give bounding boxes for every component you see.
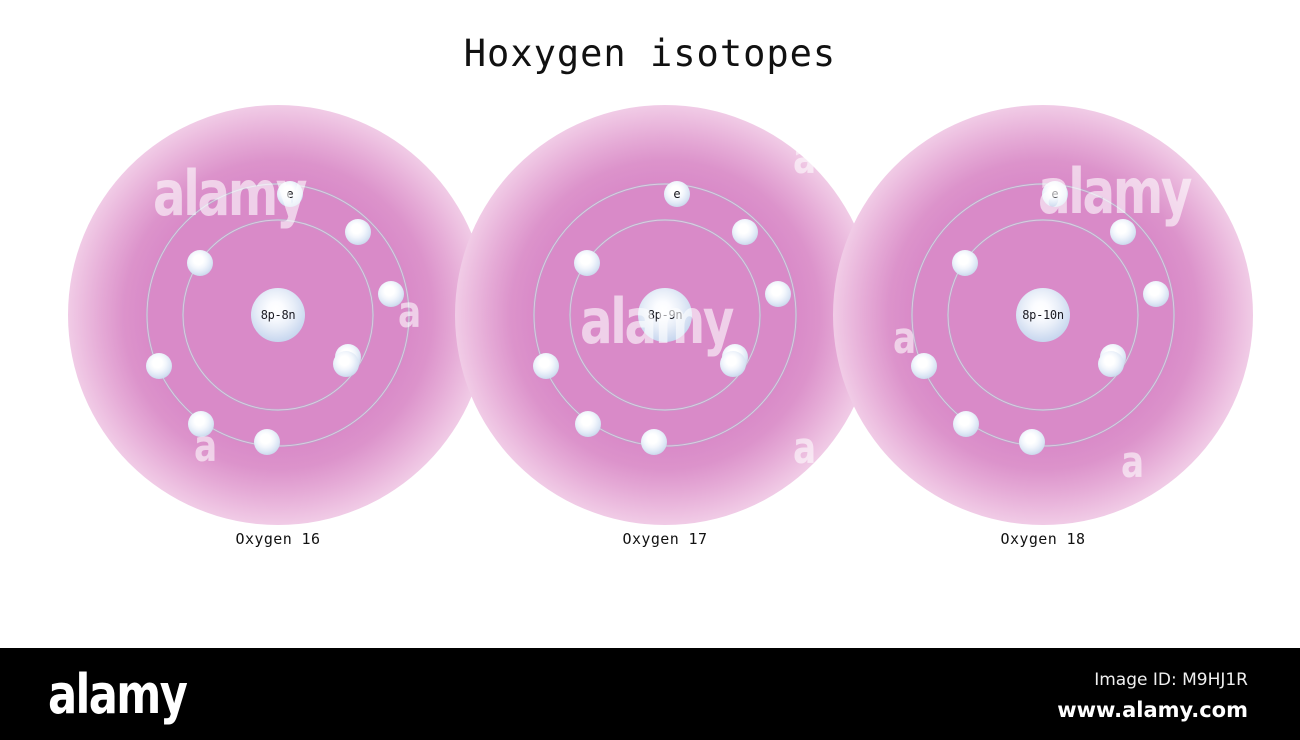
electron-outer-2 <box>1110 219 1136 245</box>
page-title: Hoxygen isotopes <box>0 32 1300 75</box>
electron-inner-1 <box>574 250 600 276</box>
alamy-logo[interactable]: alamy <box>48 668 186 722</box>
electron-symbol: e <box>1051 188 1058 200</box>
electron-outer-1-labeled: e <box>277 181 303 207</box>
electron-outer-1-labeled: e <box>664 181 690 207</box>
electron-symbol: e <box>673 188 680 200</box>
nucleus: 8p-9n <box>638 288 692 342</box>
image-id-text: Image ID: M9HJ1R <box>1094 670 1248 690</box>
electron-outer-3 <box>1143 281 1169 307</box>
electron-outer-3 <box>378 281 404 307</box>
nucleus: 8p-8n <box>251 288 305 342</box>
nucleus-label: 8p-10n <box>1022 308 1064 322</box>
electron-outer-7 <box>911 353 937 379</box>
electron-outer-5 <box>641 429 667 455</box>
diagram-canvas: Hoxygen isotopes 8p-8n e alamy a a Oxyge… <box>0 0 1300 648</box>
electron-inner-1 <box>187 250 213 276</box>
atom-caption: Oxygen 17 <box>455 530 875 548</box>
electron-inner-1 <box>952 250 978 276</box>
nucleus-label: 8p-9n <box>648 308 683 322</box>
nucleus-label: 8p-8n <box>261 308 296 322</box>
website-url[interactable]: www.alamy.com <box>1057 698 1248 722</box>
electron-outer-5 <box>1019 429 1045 455</box>
nucleus: 8p-10n <box>1016 288 1070 342</box>
electron-outer-2 <box>345 219 371 245</box>
electron-outer-3 <box>765 281 791 307</box>
electron-outer-2 <box>732 219 758 245</box>
atom-caption: Oxygen 16 <box>68 530 488 548</box>
atom-oxygen-18: 8p-10n e alamy a a Oxygen 18 <box>833 105 1253 525</box>
electron-outer-7 <box>146 353 172 379</box>
atom-oxygen-16: 8p-8n e alamy a a Oxygen 16 <box>68 105 488 525</box>
electron-outer-4 <box>333 351 359 377</box>
electron-outer-6 <box>188 411 214 437</box>
electron-symbol: e <box>286 188 293 200</box>
electron-outer-7 <box>533 353 559 379</box>
electron-outer-4 <box>720 351 746 377</box>
electron-outer-4 <box>1098 351 1124 377</box>
atom-oxygen-17: 8p-9n e alamy a a Oxygen 17 <box>455 105 875 525</box>
electron-outer-1-labeled: e <box>1042 181 1068 207</box>
electron-outer-6 <box>953 411 979 437</box>
electron-outer-6 <box>575 411 601 437</box>
electron-outer-5 <box>254 429 280 455</box>
atom-caption: Oxygen 18 <box>833 530 1253 548</box>
footer-bar: alamy Image ID: M9HJ1R www.alamy.com <box>0 648 1300 740</box>
